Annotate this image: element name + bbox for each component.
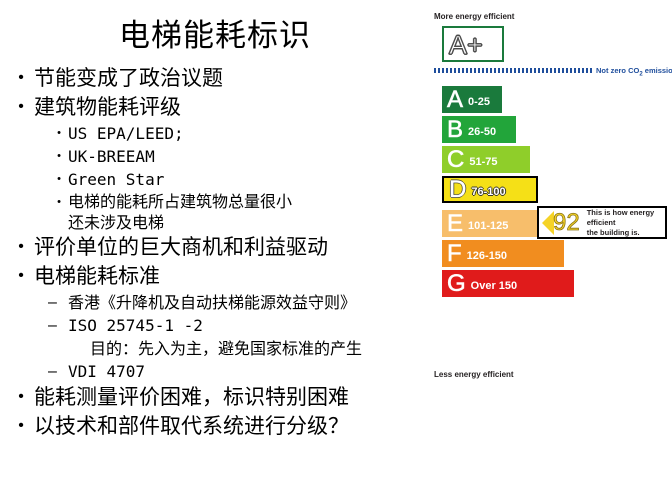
- bullet-text: VDI 4707: [68, 360, 433, 383]
- bullet-text-line2: 还未涉及电梯: [68, 213, 164, 232]
- band-aplus-letter: A+: [449, 30, 483, 60]
- bullet-marker: •: [8, 93, 34, 121]
- bullet-item: –香港《升降机及自动扶梯能源效益守则》: [48, 291, 433, 314]
- bullet-text-line1: 评价单位的巨大商机和利益驱动: [34, 235, 328, 259]
- bullet-text: 节能变成了政治议题: [34, 64, 433, 92]
- bullet-marker: •: [8, 412, 34, 440]
- bullet-text: 以技术和部件取代系统进行分级？: [34, 412, 433, 440]
- bullet-text: UK-BREEAM: [68, 145, 433, 168]
- rating-band-g: GOver 150: [442, 270, 574, 297]
- energy-rating-chart: More energy efficient A+ Not zero CO2 em…: [432, 6, 670, 386]
- bullet-marker: •: [8, 64, 34, 92]
- rating-band-b: B26-50: [442, 116, 516, 143]
- pointer-text-line2: the building is.: [587, 228, 640, 237]
- page-title: 电梯能耗标识: [0, 18, 430, 54]
- rating-band-d: D76-100: [442, 176, 538, 203]
- band-range: 76-100: [471, 187, 505, 198]
- bullet-marker: •: [50, 145, 68, 168]
- bullet-text-line1: ISO 25745-1 -2: [68, 316, 203, 335]
- co2-note-tail: emissions: [643, 66, 672, 75]
- band-letter: G: [447, 272, 466, 296]
- bullet-marker: •: [50, 122, 68, 145]
- bullet-text: 建筑物能耗评级: [34, 93, 433, 121]
- bullet-text: 目的：先入为主，避免国家标准的产生: [90, 339, 362, 358]
- bullet-text: 能耗测量评价困难，标识特别困难: [34, 383, 433, 411]
- rating-band-e: E101-125: [442, 210, 550, 237]
- bullet-item: •Green Star: [50, 168, 433, 191]
- band-range: 26-50: [468, 127, 496, 138]
- bullet-text: ISO 25745-1 -2: [68, 314, 433, 337]
- bullet-text-line1: 以技术和部件取代系统进行分级？: [34, 414, 349, 438]
- bullet-text-line1: 香港《升降机及自动扶梯能源效益守则》: [68, 293, 356, 312]
- bullet-marker: –: [48, 360, 68, 383]
- band-letter: A: [447, 88, 463, 112]
- bullet-item: •电梯的能耗所占建筑物总量很小还未涉及电梯: [50, 191, 433, 233]
- rating-band-c: C51-75: [442, 146, 530, 173]
- bullet-text-line1: 节能变成了政治议题: [34, 66, 223, 90]
- bullet-marker: –: [48, 314, 68, 337]
- bullet-item: –VDI 4707: [48, 360, 433, 383]
- bullet-item: •电梯能耗标准: [8, 262, 433, 290]
- bullet-text-line1: US EPA/LEED;: [68, 124, 184, 143]
- bullet-item: –ISO 25745-1 -2: [48, 314, 433, 337]
- band-letter: D: [449, 178, 466, 202]
- band-letter: C: [447, 148, 464, 172]
- current-rating-value: 92: [553, 211, 580, 235]
- bullet-text-line1: 电梯能耗标准: [34, 264, 160, 288]
- band-aplus-box: A+: [442, 26, 504, 62]
- band-range: 101-125: [468, 221, 508, 232]
- bullet-text-line1: 电梯的能耗所占建筑物总量很小: [68, 192, 292, 211]
- co2-note-label: Not zero CO2 emissions: [596, 66, 672, 80]
- bullet-text: Green Star: [68, 168, 433, 191]
- bullet-marker: •: [8, 233, 34, 261]
- rating-band-f: F126-150: [442, 240, 564, 267]
- bullet-text: 香港《升降机及自动扶梯能源效益守则》: [68, 291, 433, 314]
- band-letter: F: [447, 242, 462, 266]
- bullet-text: US EPA/LEED;: [68, 122, 433, 145]
- bullet-text-line1: 建筑物能耗评级: [34, 95, 181, 119]
- bullet-item: •节能变成了政治议题: [8, 64, 433, 92]
- bullet-item: •建筑物能耗评级: [8, 93, 433, 121]
- band-range: 126-150: [467, 251, 507, 262]
- bullet-text-line1: VDI 4707: [68, 362, 145, 381]
- bullet-item: •UK-BREEAM: [50, 145, 433, 168]
- pointer-text-line1: This is how energy efficient: [587, 208, 655, 227]
- bullet-marker: –: [48, 291, 68, 314]
- bullet-text: 评价单位的巨大商机和利益驱动: [34, 233, 433, 261]
- rating-band-a: A0-25: [442, 86, 502, 113]
- bullet-marker: •: [8, 262, 34, 290]
- co2-dotted-line: [434, 68, 592, 73]
- bullet-text: 电梯能耗标准: [34, 262, 433, 290]
- bullet-item: •US EPA/LEED;: [50, 122, 433, 145]
- bullet-marker: •: [8, 383, 34, 411]
- bullet-marker: •: [50, 168, 68, 191]
- bullet-text-line1: 能耗测量评价困难，标识特别困难: [34, 385, 349, 409]
- slide-canvas: 电梯能耗标识 •节能变成了政治议题•建筑物能耗评级•US EPA/LEED;•U…: [0, 0, 672, 486]
- bullet-item: 目的：先入为主，避免国家标准的产生: [90, 337, 433, 360]
- pointer-description: This is how energy efficient the buildin…: [587, 208, 665, 238]
- co2-note-main: Not zero CO: [596, 66, 639, 75]
- bullet-text-line1: Green Star: [68, 170, 164, 189]
- bullet-item: •能耗测量评价困难，标识特别困难: [8, 383, 433, 411]
- band-range: Over 150: [471, 281, 517, 292]
- bullet-text-line1: UK-BREEAM: [68, 147, 155, 166]
- band-letter: E: [447, 212, 463, 236]
- chart-top-label: More energy efficient: [434, 12, 514, 22]
- bullet-list: •节能变成了政治议题•建筑物能耗评级•US EPA/LEED;•UK-BREEA…: [8, 64, 433, 441]
- band-range: 51-75: [469, 157, 497, 168]
- current-rating-pointer: 92 This is how energy efficient the buil…: [537, 206, 667, 239]
- bullet-item: •以技术和部件取代系统进行分级？: [8, 412, 433, 440]
- bullet-marker: •: [50, 191, 68, 214]
- bullet-text: 电梯的能耗所占建筑物总量很小还未涉及电梯: [68, 191, 433, 233]
- chart-bottom-label: Less energy efficient: [434, 370, 514, 380]
- band-range: 0-25: [468, 97, 490, 108]
- band-letter: B: [447, 118, 463, 142]
- bullet-item: •评价单位的巨大商机和利益驱动: [8, 233, 433, 261]
